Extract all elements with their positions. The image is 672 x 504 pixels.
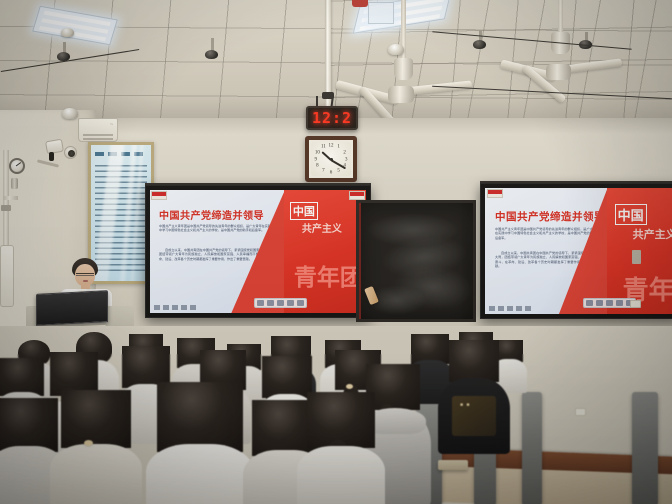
slide-footer-mark — [154, 305, 198, 310]
shirt-graphic — [452, 396, 496, 436]
camera-dome-icon — [62, 108, 78, 119]
slide-red-line-1-text: 中国 — [615, 204, 647, 225]
left-display-screen[interactable]: 中国共产党缔造并领导 中国共产主义青年团是中国共产党领导的先进青年的群众组织，是… — [150, 190, 366, 313]
camera-dome-icon — [388, 44, 404, 55]
chalkboard — [356, 200, 476, 322]
chalkboard-edge-trim — [359, 203, 361, 319]
slide-toolbar[interactable] — [254, 298, 307, 308]
clock-face: 12 1 2 3 4 5 6 7 8 9 10 11 — [311, 142, 351, 176]
seat-back[interactable] — [522, 392, 542, 504]
pointer-icon[interactable] — [257, 300, 264, 306]
digital-clock-time: 12:2 — [312, 109, 352, 127]
student-hair — [449, 340, 499, 382]
classroom-photo: 〜 12:2 12 1 2 3 4 5 6 7 8 9 10 — [0, 0, 672, 504]
shirt-print-text: ■ ■ — [460, 402, 470, 408]
analog-wall-clock: 12 1 2 3 4 5 6 7 8 9 10 11 — [305, 136, 357, 182]
student-hair — [0, 358, 44, 396]
hair-tie — [84, 440, 93, 446]
student-ponytail — [300, 392, 382, 504]
slide-red-line-2: 共产主义 — [633, 226, 672, 242]
clock-numeral: 8 — [316, 164, 319, 169]
clock-center-pin — [330, 158, 333, 161]
presenter-mouth — [83, 280, 88, 282]
clock-numeral: 1 — [337, 145, 340, 150]
ceiling-fixture-red — [352, 0, 368, 7]
slide-paragraph-1: 中国共产主义青年团是中国共产党领导的先进青年的群众组织，是广大青年在实践中学习中… — [159, 224, 271, 233]
hair-tie — [346, 384, 353, 389]
slide-red-line-1-text: 中国 — [290, 202, 318, 220]
writing-desk — [438, 460, 468, 470]
wall-water-tank — [0, 245, 14, 307]
student-hair — [157, 382, 243, 452]
presentation-slide: 中国共产党缔造并领导 中国共产主义青年团是中国共产党领导的先进青年的群众组织，是… — [485, 188, 672, 314]
slide-icon[interactable] — [616, 300, 623, 306]
clock-numeral: 2 — [343, 151, 346, 156]
slide-text-panel: 中国共产党缔造并领导 中国共产主义青年团是中国共产党领导的先进青年的群众组织，是… — [150, 190, 284, 313]
slide-red-panel: 中国 共产主义 青年团 — [284, 190, 366, 313]
slide-title: 中国共产党缔造并领导 — [159, 207, 264, 222]
clock-numeral: 7 — [322, 169, 325, 174]
student-hair — [0, 398, 58, 452]
ceiling-fan-left — [388, 6, 418, 46]
ac-brand-label: 〜 — [110, 122, 113, 126]
student-torso — [50, 444, 142, 504]
right-display[interactable]: 中国共产党缔造并领导 中国共产主义青年团是中国共产党领导的先进青年的群众组织，是… — [480, 183, 672, 319]
left-display[interactable]: 中国共产党缔造并领导 中国共产主义青年团是中国共产党领导的先进青年的群众组织，是… — [145, 185, 371, 318]
slide-red-line-1: 中国 — [615, 204, 647, 225]
pressure-gauge — [9, 158, 25, 174]
clock-numeral: 10 — [315, 151, 320, 156]
display-asset-label-right — [349, 191, 365, 200]
pen-icon[interactable] — [596, 300, 603, 306]
display-asset-label-left — [151, 191, 167, 200]
eraser-icon[interactable] — [606, 300, 613, 306]
pen-icon[interactable] — [267, 300, 274, 306]
slide-icon[interactable] — [287, 300, 294, 306]
display-asset-label-left — [487, 189, 503, 198]
clock-numeral: 6 — [330, 170, 333, 175]
pipe-branch — [3, 196, 18, 200]
student-torso — [146, 444, 254, 504]
presentation-slide: 中国共产党缔造并领导 中国共产主义青年团是中国共产党领导的先进青年的群众组织，是… — [150, 190, 366, 313]
slide-paragraph-1: 中国共产主义青年团是中国共产党领导的先进青年的群众组织，是广大青年在实践中学习中… — [495, 227, 599, 240]
fan-hub — [546, 64, 571, 80]
student-ponytail — [54, 390, 138, 504]
wall-speaker-icon — [64, 146, 77, 159]
slide-footer-mark — [489, 306, 533, 311]
clock-numeral: 12 — [329, 144, 334, 149]
slide-red-line-1: 中国 — [290, 202, 318, 220]
slide-title: 中国共产党缔造并领导 — [495, 209, 605, 224]
wall-mounted-box-right — [632, 250, 641, 264]
camera-lens-icon — [49, 152, 54, 161]
laptop[interactable] — [36, 290, 108, 326]
slide-toolbar[interactable] — [583, 298, 636, 308]
wall-outlet-plate — [630, 300, 641, 308]
slide-red-line-2: 共产主义 — [302, 220, 342, 235]
clock-numeral: 9 — [315, 157, 318, 162]
student-hair — [61, 390, 131, 448]
student — [150, 382, 250, 504]
presenter-glasses — [76, 273, 94, 276]
pipe-valve — [11, 178, 18, 189]
camera-dome-icon — [61, 28, 74, 37]
clock-numeral: 11 — [321, 145, 326, 150]
wall-outlet-plate — [575, 408, 586, 416]
ceiling-dome-speaker — [205, 50, 218, 59]
ceiling-fan-right — [545, 0, 575, 32]
right-display-screen[interactable]: 中国共产党缔造并领导 中国共产主义青年团是中国共产党领导的先进青年的群众组织，是… — [485, 188, 672, 314]
student-black-tee: ■ ■ — [440, 340, 508, 460]
ceiling-dome-speaker — [473, 40, 486, 49]
seat-back[interactable] — [632, 392, 658, 504]
clock-numeral: 5 — [337, 169, 340, 174]
eraser-icon[interactable] — [277, 300, 284, 306]
air-conditioner-unit: 〜 — [78, 118, 118, 142]
student-torso — [297, 446, 385, 504]
digital-clock: 12:2 — [306, 106, 358, 130]
slide-text-panel: 中国共产党缔造并领导 中国共产主义青年团是中国共产党领导的先进青年的群众组织，是… — [485, 188, 607, 314]
clock-numeral: 3 — [345, 157, 348, 162]
slide-red-line-3: 青年团 — [294, 258, 363, 292]
pipe-flange — [1, 205, 11, 211]
more-icon[interactable] — [297, 300, 304, 306]
pointer-icon[interactable] — [586, 300, 593, 306]
